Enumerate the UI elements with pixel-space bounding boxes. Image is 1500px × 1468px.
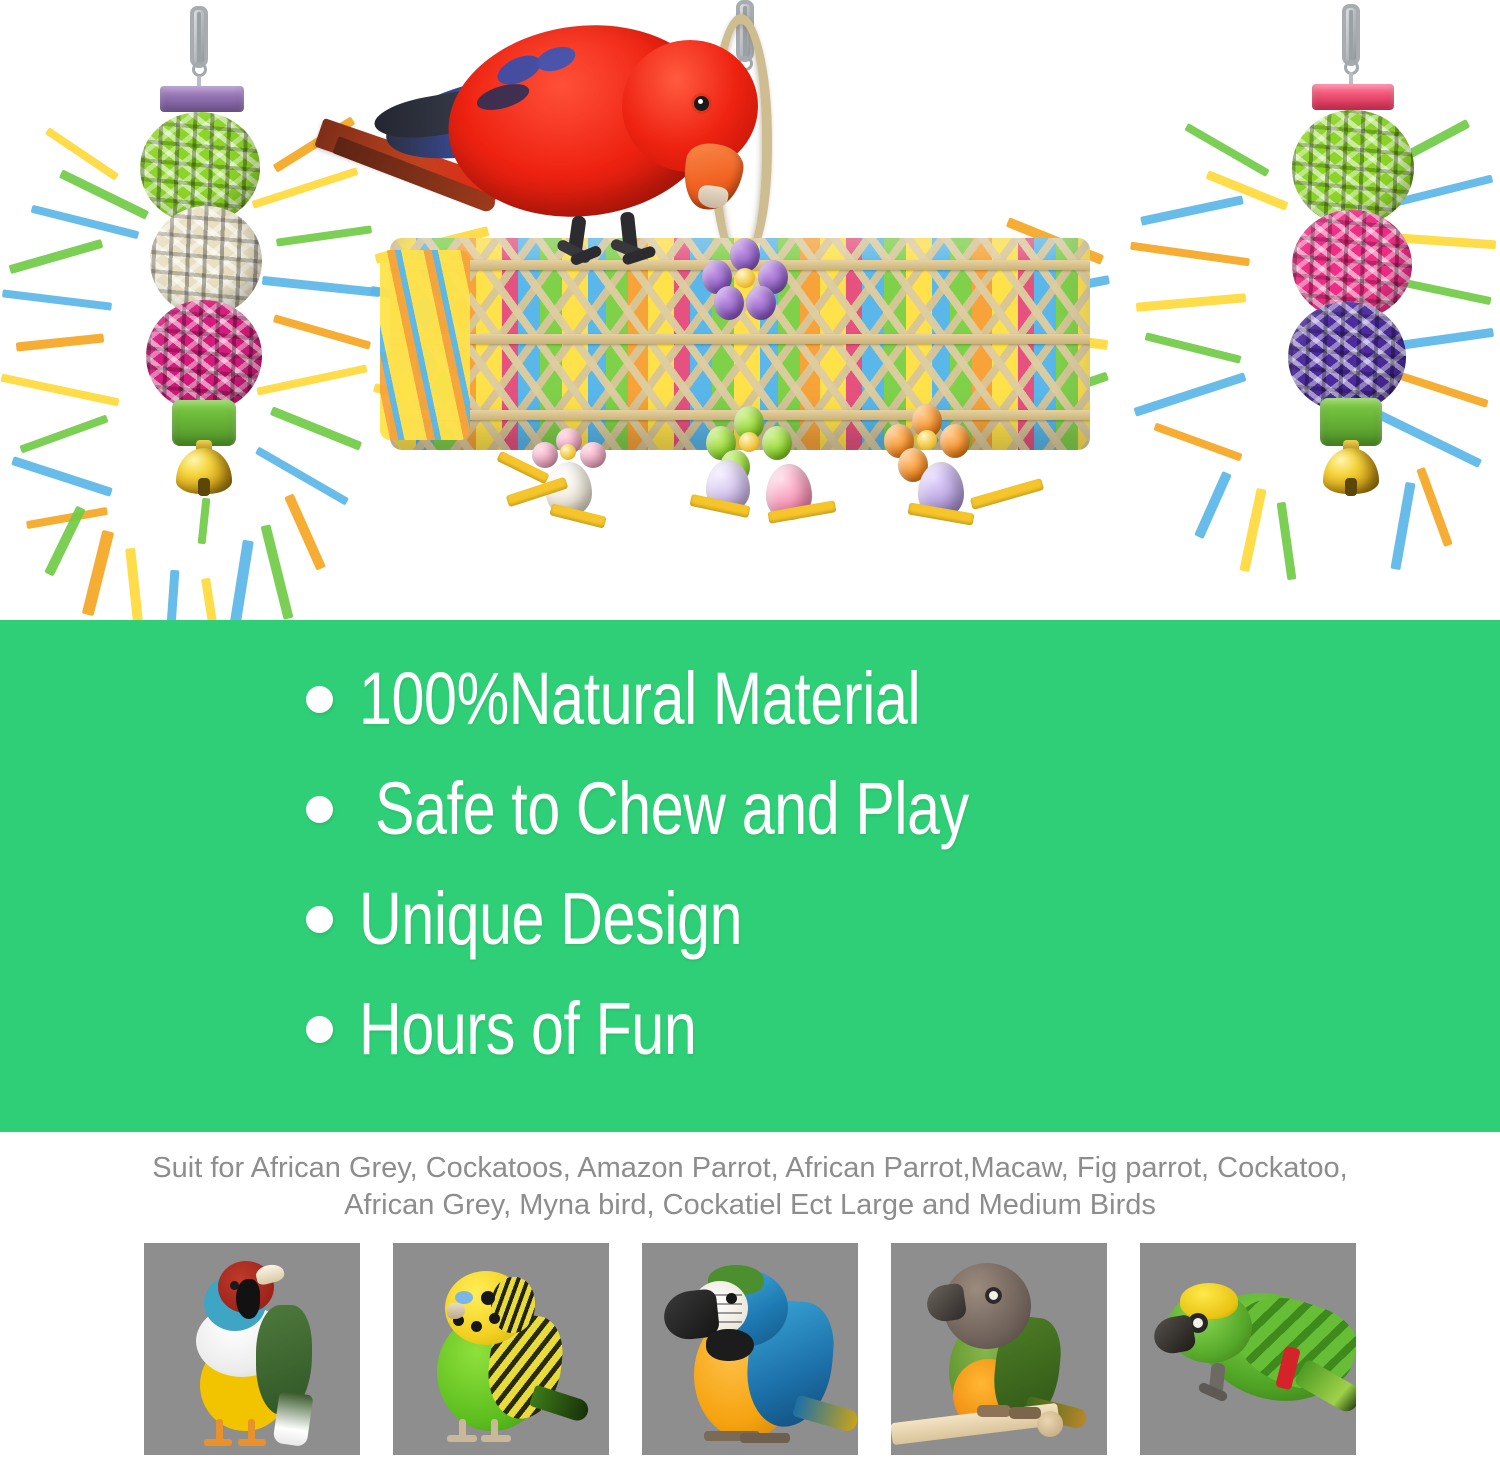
finch-eye — [230, 1281, 239, 1290]
feature-item: 100%Natural Material — [306, 644, 1406, 754]
bottom-wood-block — [1320, 398, 1382, 446]
bullet-dot-icon — [306, 686, 333, 713]
feature-item: Unique Design — [306, 864, 1406, 974]
macaw-tail — [792, 1395, 858, 1434]
rattan-ball-magenta — [146, 300, 262, 412]
budgie-cheek-spot — [489, 1313, 500, 1324]
feature-label: Hours of Fun — [359, 992, 696, 1066]
product-photo-band — [0, 0, 1500, 620]
budgie-nape-stripes — [491, 1277, 535, 1333]
species-thumbnail-strip — [0, 1243, 1500, 1458]
macaw-foot — [740, 1433, 790, 1443]
caption-line-1: Suit for African Grey, Cockatoos, Amazon… — [0, 1150, 1500, 1187]
amazon-yellow-nape — [1180, 1283, 1238, 1319]
budgie-foot — [447, 1435, 477, 1442]
finch-tail — [273, 1391, 314, 1447]
left-hanging-shredder-toy — [0, 0, 400, 620]
finch-face-black — [236, 1279, 260, 1319]
budgie-eye — [481, 1291, 495, 1305]
bullet-dot-icon — [306, 796, 333, 823]
bell-tail-strand — [198, 498, 211, 545]
finch-foot — [204, 1439, 232, 1446]
macaw-throat-black — [706, 1329, 754, 1361]
budgie-cheek-spot — [471, 1321, 482, 1332]
species-thumbnail-budgerigar — [393, 1243, 609, 1455]
top-wood-block — [1312, 84, 1394, 110]
rattan-ball-green — [1292, 110, 1414, 226]
feature-label: Safe to Chew and Play — [359, 772, 969, 846]
species-thumbnail-blue-gold-macaw — [642, 1243, 858, 1455]
feature-label: 100%Natural Material — [359, 662, 920, 736]
species-thumbnail-gouldian-finch — [144, 1243, 360, 1455]
feature-item: Hours of Fun — [306, 974, 1406, 1084]
feature-label: Unique Design — [359, 882, 742, 956]
senegal-eye — [985, 1287, 1002, 1304]
red-lory-parrot — [370, 0, 790, 330]
feature-list: 100%Natural Material Safe to Chew and Pl… — [306, 644, 1406, 1084]
species-thumbnail-amazon-parrot — [1140, 1243, 1356, 1455]
species-thumbnail-senegal-parrot — [891, 1243, 1107, 1455]
gold-bell — [176, 440, 232, 502]
macaw-eye — [726, 1293, 737, 1304]
compatibility-caption: Suit for African Grey, Cockatoos, Amazon… — [0, 1150, 1500, 1224]
metal-spring-clip-icon — [1338, 4, 1364, 82]
gold-bell — [1323, 440, 1379, 502]
parrot-eye-highlight — [698, 99, 703, 104]
caption-line-2: African Grey, Myna bird, Cockatiel Ect L… — [0, 1187, 1500, 1224]
bullet-dot-icon — [306, 906, 333, 933]
bead-tie-strap — [970, 478, 1044, 510]
feature-item: Safe to Chew and Play — [306, 754, 1406, 864]
senegal-foot — [1009, 1407, 1041, 1419]
feature-banner: 100%Natural Material Safe to Chew and Pl… — [0, 620, 1500, 1132]
right-hanging-shredder-toy — [1130, 0, 1500, 620]
top-wood-block — [160, 86, 244, 112]
bullet-dot-icon — [306, 1016, 333, 1043]
rattan-ball-purple — [1288, 302, 1406, 412]
finch-foot — [238, 1439, 266, 1446]
budgie-foot — [481, 1435, 511, 1442]
senegal-foot — [977, 1405, 1011, 1417]
metal-spring-clip-icon — [186, 6, 212, 84]
budgie-tail — [529, 1385, 591, 1424]
senegal-beak — [925, 1283, 968, 1324]
center-woven-foraging-toy — [370, 0, 1110, 620]
